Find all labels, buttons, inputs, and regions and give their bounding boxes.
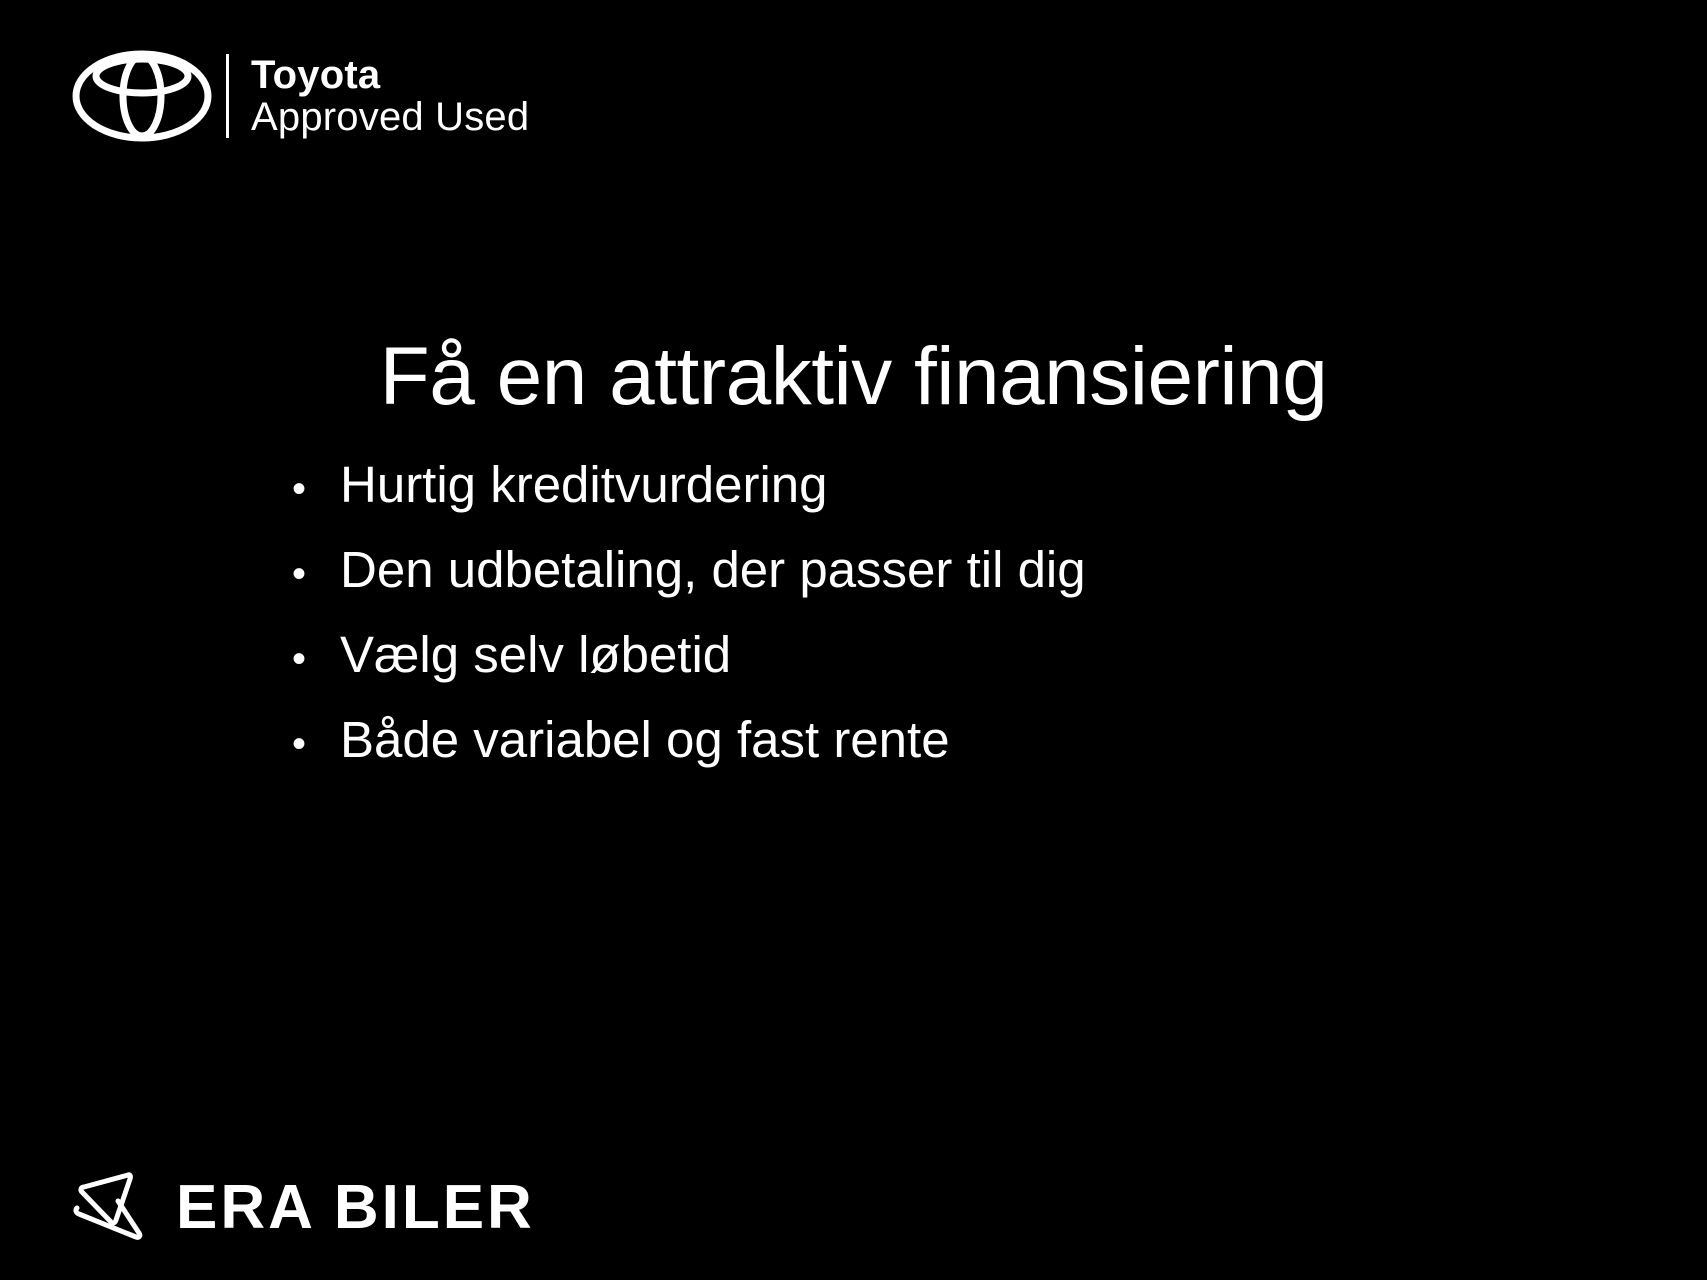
slide-canvas: Toyota Approved Used Få en attraktiv fin… [0,0,1707,1280]
slide-content: Få en attraktiv finansiering • Hurtig kr… [0,330,1707,782]
list-item: • Den udbetaling, der passer til dig [0,527,1707,612]
list-item: • Vælg selv løbetid [0,612,1707,697]
toyota-logo-icon [72,44,212,148]
page-title: Få en attraktiv finansiering [0,330,1707,424]
era-biler-logo: ERA BILER [68,1168,535,1248]
brand-line-approved-used: Approved Used [251,96,529,138]
brand-line-toyota: Toyota [251,54,529,96]
bullet-marker-icon: • [292,469,340,509]
benefits-list: • Hurtig kreditvurdering • Den udbetalin… [0,442,1707,782]
list-item: • Både variabel og fast rente [0,697,1707,782]
list-item-label: Både variabel og fast rente [340,714,950,765]
list-item-label: Vælg selv løbetid [340,629,731,680]
list-item: • Hurtig kreditvurdering [0,442,1707,527]
bullet-marker-icon: • [292,554,340,594]
toyota-brand-lockup: Toyota Approved Used [72,44,529,148]
bullet-marker-icon: • [292,724,340,764]
era-biler-wordmark: ERA BILER [176,1177,535,1239]
era-triangle-swoosh-icon [68,1168,154,1248]
list-item-label: Hurtig kreditvurdering [340,459,828,510]
brand-divider [226,54,229,138]
bullet-marker-icon: • [292,639,340,679]
list-item-label: Den udbetaling, der passer til dig [340,544,1086,595]
brand-wordmark: Toyota Approved Used [251,54,529,139]
